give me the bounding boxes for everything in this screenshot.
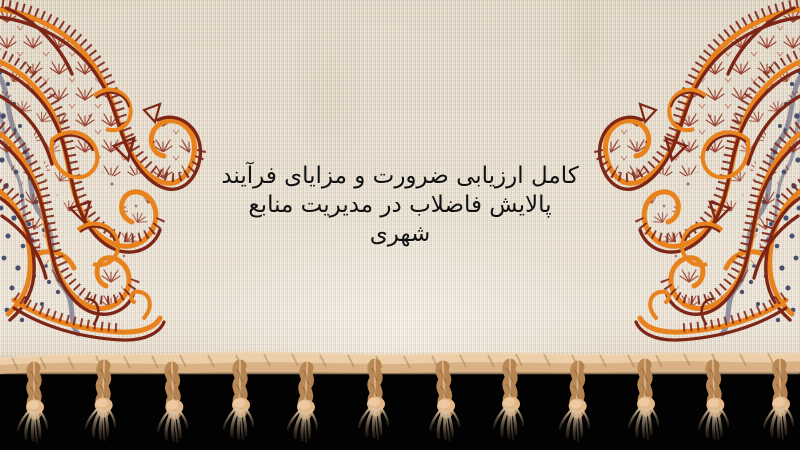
tassel-fringe bbox=[0, 344, 800, 450]
tassel-item bbox=[287, 367, 320, 442]
tassel-item bbox=[494, 365, 523, 439]
tassel-item bbox=[764, 365, 793, 439]
tassel-item bbox=[697, 366, 729, 441]
slide-canvas: کامل ارزیابی ضرورت و مزایای فرآیند پالای… bbox=[0, 0, 800, 450]
tassel-item bbox=[18, 368, 47, 442]
tassel-item bbox=[156, 368, 188, 443]
ornament-tail bbox=[14, 292, 164, 340]
tassel-item bbox=[359, 365, 388, 439]
tassel-item bbox=[559, 366, 591, 441]
tassel-item bbox=[427, 366, 460, 441]
slide-title: کامل ارزیابی ضرورت و مزایای فرآیند پالای… bbox=[150, 162, 650, 249]
tassel-item bbox=[224, 366, 253, 440]
tassel-item bbox=[85, 365, 117, 440]
tassel-item bbox=[629, 365, 658, 439]
